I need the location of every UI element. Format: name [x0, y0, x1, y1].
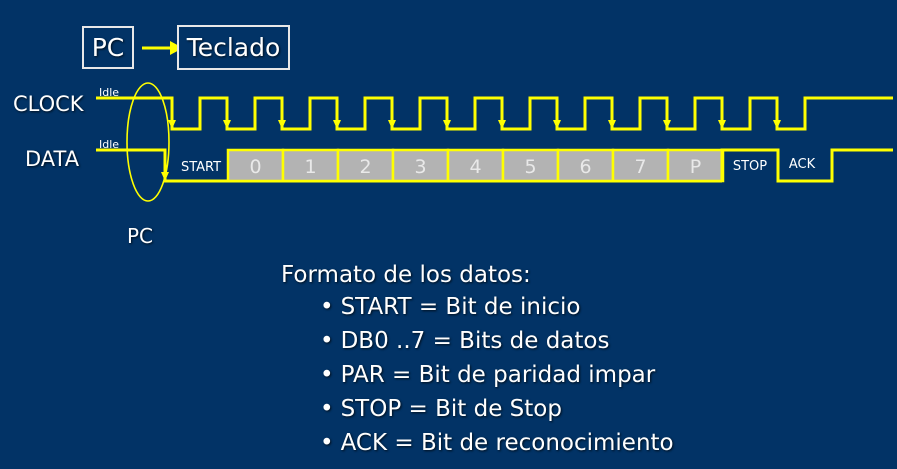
- start-bit-tag: START: [181, 160, 221, 175]
- pc-highlight-annotation: PC: [127, 224, 153, 248]
- format-item: •START = Bit de inicio: [320, 290, 897, 324]
- data-bit-label: 2: [359, 156, 371, 178]
- data-bit-label: 3: [414, 156, 426, 178]
- highlight-ellipse: [127, 83, 169, 201]
- data-waveform: Idle START 01234567P STOP ACK: [96, 138, 893, 181]
- format-item-list: •START = Bit de inicio•DB0 ..7 = Bits de…: [281, 290, 897, 460]
- format-item: •ACK = Bit de reconocimiento: [320, 426, 897, 460]
- bullet-icon: •: [320, 362, 334, 388]
- data-bit-label: 4: [469, 156, 481, 178]
- format-item-label: STOP = Bit de Stop: [341, 396, 562, 422]
- format-item-label: START = Bit de inicio: [341, 294, 581, 320]
- data-idle-label: Idle: [99, 138, 119, 151]
- data-bit-label: 6: [579, 156, 591, 178]
- ack-bit-tag: ACK: [789, 157, 816, 172]
- timing-diagram: Idle Idle START 01234567P STOP ACK: [0, 0, 897, 260]
- slide-canvas: PC Teclado CLOCK DATA: [0, 0, 897, 469]
- data-bit-label: 5: [524, 156, 536, 178]
- data-bit-label: 0: [249, 156, 261, 178]
- bullet-icon: •: [320, 294, 334, 320]
- format-item: •PAR = Bit de paridad impar: [320, 358, 897, 392]
- format-item: •STOP = Bit de Stop: [320, 392, 897, 426]
- data-bit-cells: 01234567P: [228, 150, 723, 181]
- stop-bit-tag: STOP: [733, 159, 767, 174]
- data-bit-label: 7: [634, 156, 646, 178]
- format-item: •DB0 ..7 = Bits de datos: [320, 324, 897, 358]
- clock-waveform: Idle: [96, 86, 893, 129]
- format-title: Formato de los datos:: [281, 262, 897, 288]
- format-item-label: DB0 ..7 = Bits de datos: [341, 328, 610, 354]
- bullet-icon: •: [320, 328, 334, 354]
- clock-idle-label: Idle: [99, 86, 119, 99]
- format-item-label: ACK = Bit de reconocimiento: [341, 430, 674, 456]
- data-format-block: Formato de los datos: •START = Bit de in…: [281, 262, 897, 460]
- bullet-icon: •: [320, 430, 334, 456]
- data-bit-label: P: [690, 156, 701, 178]
- data-bit-label: 1: [304, 156, 316, 178]
- format-item-label: PAR = Bit de paridad impar: [341, 362, 656, 388]
- bullet-icon: •: [320, 396, 334, 422]
